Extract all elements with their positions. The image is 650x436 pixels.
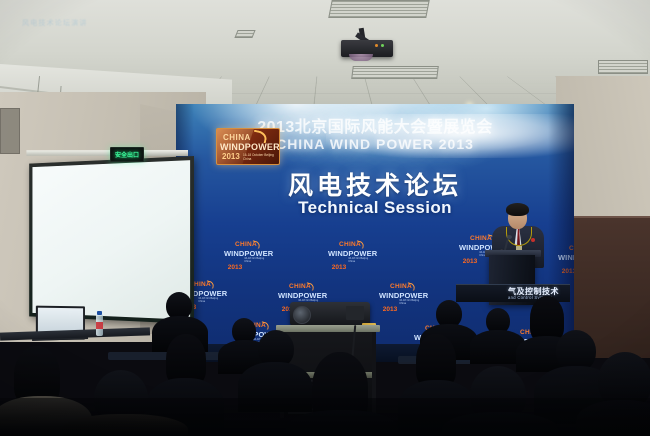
lapel-pin-icon (531, 238, 535, 242)
foreground-shadow (0, 398, 650, 436)
screen-projected-text: 风电技术论坛演讲 (22, 18, 142, 28)
microphone-icon (507, 235, 512, 239)
air-vent (598, 60, 648, 74)
bottle-label (96, 322, 103, 329)
av-cart-top (276, 325, 380, 332)
projector-lens-icon (349, 54, 373, 61)
air-vent (351, 66, 439, 79)
projector-vent-plate (346, 306, 364, 320)
emergency-exit-sign: 安全出口 (110, 147, 144, 162)
bottle-cap (97, 311, 102, 315)
windpower-logo: CHINA WINDPOWER 201316-18 Oct Beijing Ch… (328, 242, 372, 268)
table-projector-lens-icon (293, 306, 311, 324)
windpower-logo: CHINA WINDPOWER 201316-18 Oct Beijing Ch… (224, 242, 268, 268)
sprinkler-plate (234, 30, 255, 38)
screen-surface (32, 160, 190, 320)
exit-sign-label: 安全出口 (115, 150, 139, 159)
conference-photo-scene: CHINA WINDPOWER 201316-18 Oct Beijing Ch… (0, 0, 650, 436)
wall-panel (0, 108, 20, 154)
projector-indicator-icon (375, 44, 378, 47)
projector-indicator-icon (381, 44, 384, 47)
air-vent (328, 0, 429, 18)
session-title-chinese: 风电技术论坛 (176, 166, 574, 202)
windpower-logo: CHINA WINDPOWER 201316-18 Oct Beijing Ch… (379, 284, 423, 310)
screen-roller-bar (26, 150, 188, 156)
china-windpower-badge: CHINA WINDPOWER 2013 16-18 October Beiji… (216, 128, 280, 165)
speaker-hair (506, 203, 529, 216)
